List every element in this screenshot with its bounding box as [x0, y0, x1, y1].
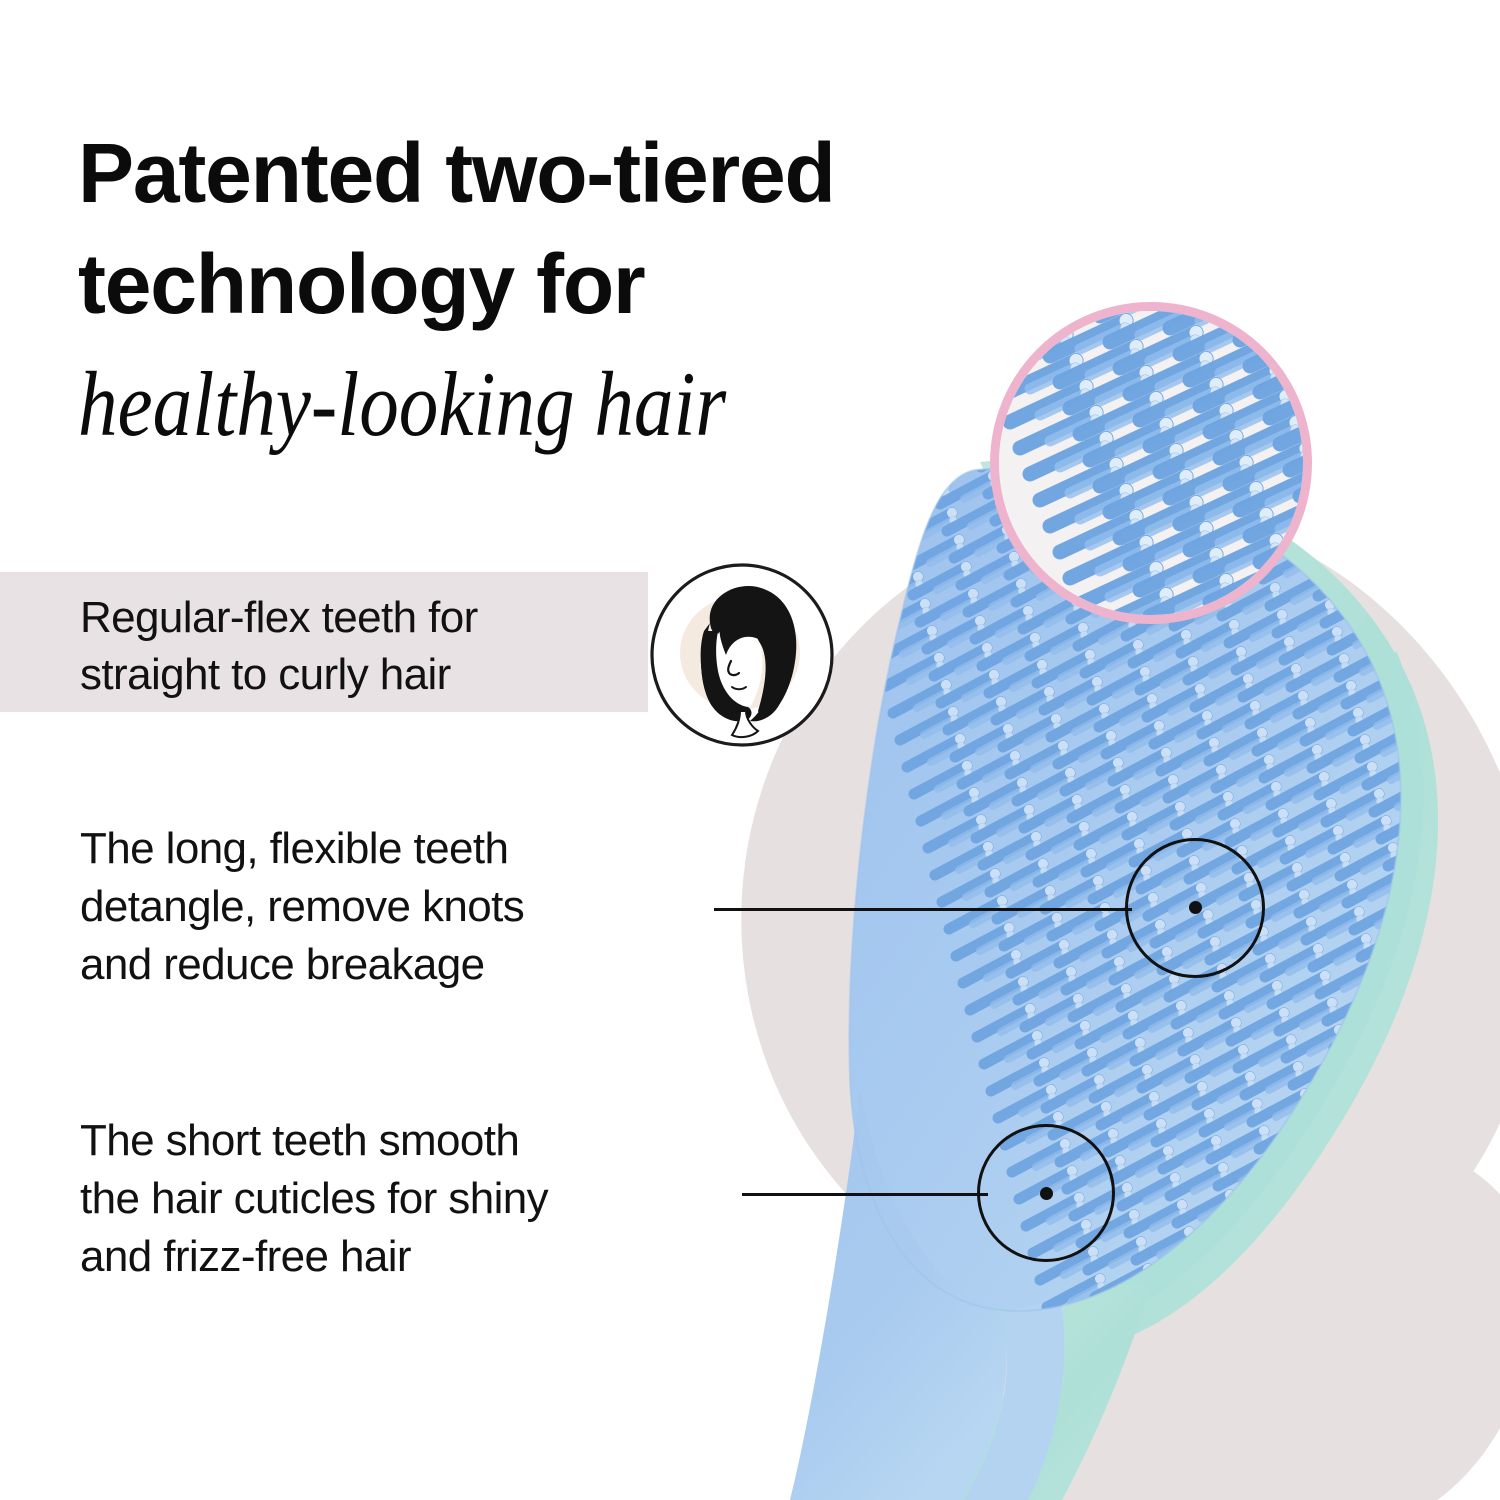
feature-1-line-2: detangle, remove knots — [80, 878, 720, 936]
feature-1-line-3: and reduce breakage — [80, 936, 720, 994]
leader-line-long-teeth — [714, 908, 1132, 911]
headline-line-1: Patented two-tiered — [78, 118, 1118, 229]
headline-line-2: technology for — [78, 229, 1118, 340]
banner-text: Regular-flex teeth for straight to curly… — [80, 589, 640, 703]
banner-text-line-1: Regular-flex teeth for — [80, 589, 640, 646]
woman-hair-icon-svg — [648, 561, 836, 749]
banner-text-line-2: straight to curly hair — [80, 646, 640, 703]
page-title: Patented two-tiered technology for healt… — [78, 118, 1118, 458]
target-dot-short-teeth — [1040, 1187, 1053, 1200]
feature-2-line-2: the hair cuticles for shiny — [80, 1170, 740, 1228]
target-dot-long-teeth — [1189, 901, 1202, 914]
feature-long-teeth-text: The long, flexible teeth detangle, remov… — [80, 820, 720, 994]
feature-1-line-1: The long, flexible teeth — [80, 820, 720, 878]
woman-hair-icon — [648, 561, 836, 749]
feature-short-teeth-text: The short teeth smooth the hair cuticles… — [80, 1112, 740, 1286]
headline-line-3-italic: healthy-looking hair — [78, 350, 972, 459]
feature-2-line-3: and frizz-free hair — [80, 1228, 740, 1286]
infographic-canvas: Patented two-tiered technology for healt… — [0, 0, 1500, 1500]
leader-line-short-teeth — [742, 1193, 988, 1196]
feature-2-line-1: The short teeth smooth — [80, 1112, 740, 1170]
